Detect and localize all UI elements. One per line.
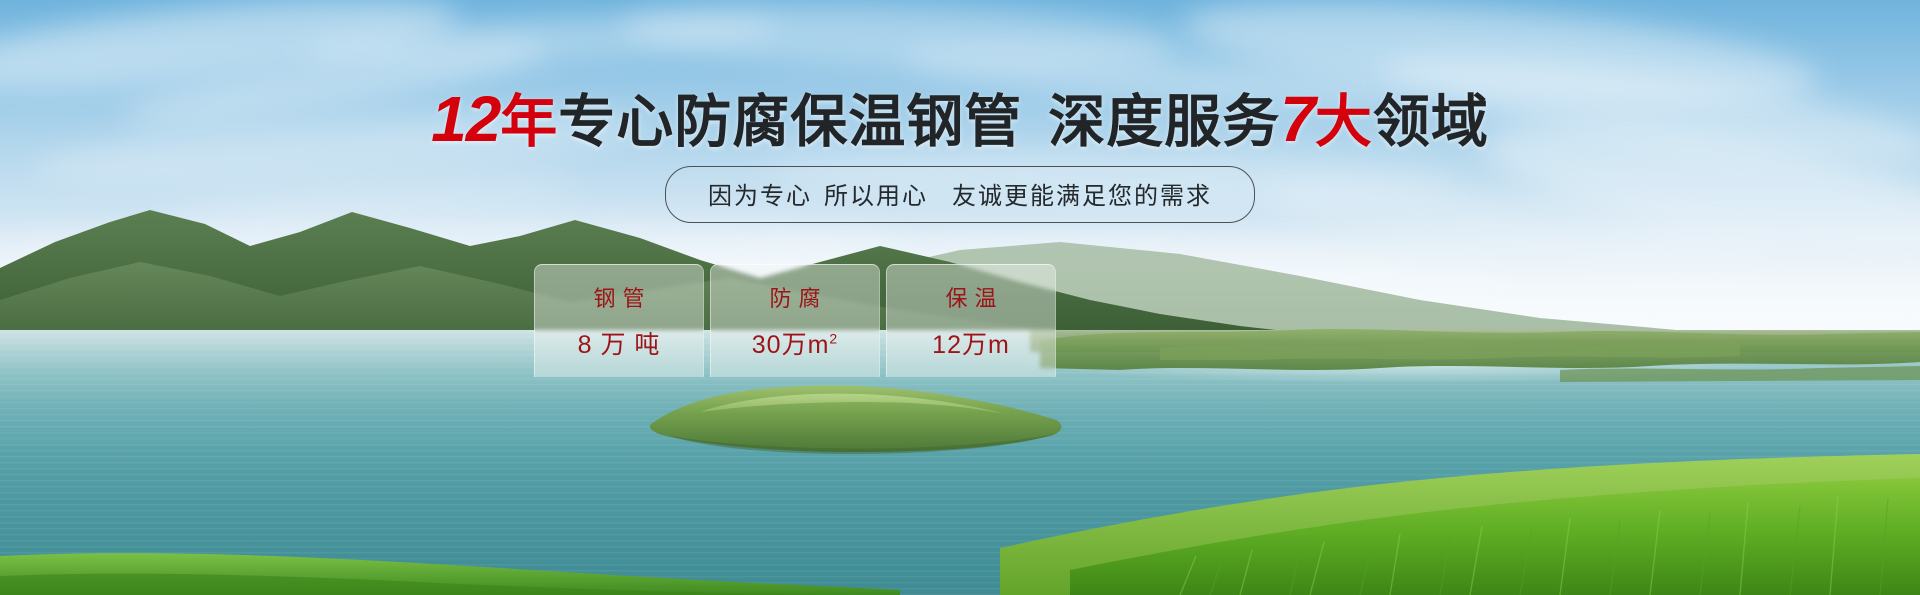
stat-card-value-text: 12万m [932, 331, 1010, 359]
stat-cards: 钢管 8 万 吨 防腐 30万m2 保温 12万m [534, 264, 1056, 377]
banner-content: 12年专心防腐保温钢管深度服务7大领域 因为专心所以用心友诚更能满足您的需求 钢… [0, 0, 1920, 595]
stat-card-title: 保温 [938, 281, 1003, 313]
headline: 12年专心防腐保温钢管深度服务7大领域 [0, 86, 1920, 153]
stat-card-title: 钢管 [586, 281, 651, 313]
stat-card-value: 30万m2 [752, 325, 838, 361]
stat-card-value-text: 8 万 吨 [578, 331, 661, 359]
headline-tail-segment: 领域 [1373, 90, 1489, 154]
stat-card-value-superscript: 2 [829, 331, 838, 347]
headline-main-segment: 专心防腐保温钢管 [558, 90, 1022, 154]
subtitle-container: 因为专心所以用心友诚更能满足您的需求 [0, 166, 1920, 223]
headline-fields-unit: 大 [1315, 90, 1373, 154]
stat-card-insulation: 保温 12万m [886, 264, 1056, 377]
headline-fields-number: 7 [1280, 83, 1315, 155]
stat-card-value: 8 万 吨 [578, 325, 661, 361]
stat-card-anticorrosion: 防腐 30万m2 [710, 264, 880, 377]
headline-years-number: 12 [431, 83, 500, 155]
stat-card-steel-pipe: 钢管 8 万 吨 [534, 264, 704, 377]
headline-years-unit: 年 [500, 90, 558, 154]
subtitle-part-3: 友诚更能满足您的需求 [952, 183, 1212, 210]
headline-service-segment: 深度服务 [1048, 90, 1280, 154]
stat-card-title: 防腐 [762, 281, 827, 313]
stat-card-value: 12万m [932, 325, 1010, 361]
stat-card-value-text: 30万m [752, 331, 830, 359]
subtitle-part-2: 所以用心 [824, 183, 928, 210]
subtitle-part-1: 因为专心 [708, 183, 812, 210]
subtitle-pill: 因为专心所以用心友诚更能满足您的需求 [665, 166, 1255, 223]
promo-banner: 12年专心防腐保温钢管深度服务7大领域 因为专心所以用心友诚更能满足您的需求 钢… [0, 0, 1920, 595]
